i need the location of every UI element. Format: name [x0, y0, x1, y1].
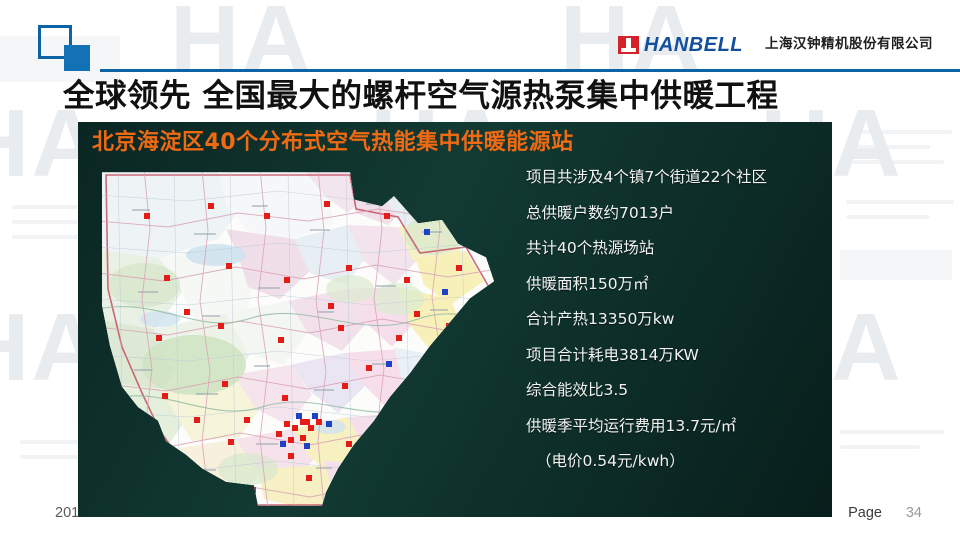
watermark-bar	[846, 200, 954, 204]
fact-item: 供暖面积150万㎡	[526, 277, 826, 293]
watermark-text: HA	[170, 0, 313, 88]
fact-item: 共计40个热源场站	[526, 241, 826, 257]
fact-item: 合计产热13350万kw	[526, 312, 826, 328]
fact-item: 总供暖户数约7013户	[526, 206, 826, 222]
slide-canvas: HA HA HA HA HA HA HA HA HA HA HA HA HANB…	[0, 0, 960, 540]
watermark-bar	[846, 215, 930, 219]
watermark-bar	[852, 145, 930, 149]
brand-company-name: 上海汉钟精机股份有限公司	[765, 38, 933, 52]
content-panel: 北京海淀区40个分布式空气热能集中供暖能源站	[78, 122, 832, 517]
watermark-bar	[852, 160, 944, 164]
page-title: 全球领先 全国最大的螺杆空气源热泵集中供暖工程	[63, 79, 923, 114]
watermark-bar	[852, 130, 952, 134]
watermark-block	[840, 250, 952, 280]
project-facts-list: 项目共涉及4个镇7个街道22个社区 总供暖户数约7013户 共计40个热源场站 …	[526, 170, 826, 470]
watermark-bar	[840, 445, 920, 449]
square-logo-mark	[38, 25, 100, 71]
logo-filled-square-icon	[64, 45, 90, 71]
fact-item: 供暖季平均运行费用13.7元/㎡	[526, 419, 826, 435]
watermark-bar	[840, 430, 944, 434]
fact-item: 项目共涉及4个镇7个街道22个社区	[526, 170, 826, 186]
fact-item: 综合能效比3.5	[526, 383, 826, 399]
fact-item: （电价0.54元/kwh）	[526, 454, 826, 470]
haidian-district-heat-station-map	[98, 169, 498, 509]
hanbell-red-badge-icon	[618, 36, 639, 54]
map-clip-region	[98, 169, 498, 509]
brand-lockup: HANBELL 上海汉钟精机股份有限公司	[618, 35, 933, 55]
footer-date: 201	[55, 506, 79, 521]
fact-item: 项目合计耗电3814万KW	[526, 348, 826, 364]
header-divider-rule	[100, 69, 960, 72]
footer-page-number: 34	[906, 506, 922, 521]
footer-page-label: Page	[848, 506, 882, 521]
brand-wordmark: HANBELL	[644, 35, 743, 55]
panel-heading: 北京海淀区40个分布式空气热能集中供暖能源站	[92, 130, 574, 155]
map-graphic	[98, 169, 498, 509]
